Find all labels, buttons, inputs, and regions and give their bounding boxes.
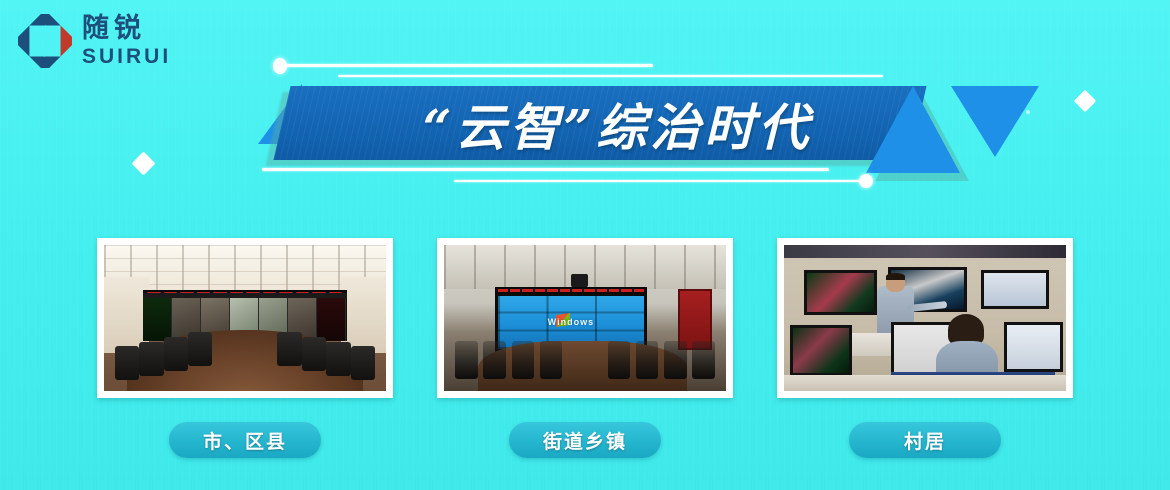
- scenario-label-city-district[interactable]: 市、区县: [169, 422, 321, 458]
- title-banner: “云智”综治时代: [258, 52, 948, 192]
- banner-triangle-down-icon: [951, 86, 1039, 157]
- page-title: “云智”综治时代: [330, 90, 905, 158]
- banner-rule-top-2: [338, 75, 883, 77]
- diamond-decoration-icon: [131, 151, 155, 175]
- city-district-command-center-photo: [104, 245, 386, 391]
- scenario-card[interactable]: Windows 街道乡镇: [436, 238, 734, 458]
- banner-rule-top-1: [280, 64, 653, 67]
- brand-logo: 随锐 SUIRUI: [18, 14, 171, 68]
- street-township-meeting-room-photo: Windows: [444, 245, 726, 391]
- scenario-card-list: 市、区县 Windows: [0, 238, 1170, 458]
- slide-canvas: 随锐 SUIRUI “云智”综治时代: [0, 0, 1170, 490]
- scenario-label-village[interactable]: 村居: [849, 422, 1001, 458]
- diamond-decoration-icon: [1074, 90, 1097, 113]
- brand-name-en: SUIRUI: [82, 46, 171, 67]
- scenario-card[interactable]: 村居: [776, 238, 1074, 458]
- banner-dot-top-left: [273, 58, 287, 74]
- banner-rule-bottom-1: [262, 168, 829, 171]
- photo-frame: [97, 238, 393, 398]
- banner-dot-bottom-right: [859, 174, 873, 188]
- scenario-label-street-township[interactable]: 街道乡镇: [509, 422, 661, 458]
- scenario-card[interactable]: 市、区县: [96, 238, 394, 458]
- brand-name-cn: 随锐: [82, 15, 171, 42]
- pinwheel-diamond-icon: [18, 14, 72, 68]
- banner-rule-bottom-2: [454, 180, 864, 182]
- photo-frame: Windows: [437, 238, 733, 398]
- village-monitoring-room-photo: [784, 245, 1066, 391]
- photo-frame: [777, 238, 1073, 398]
